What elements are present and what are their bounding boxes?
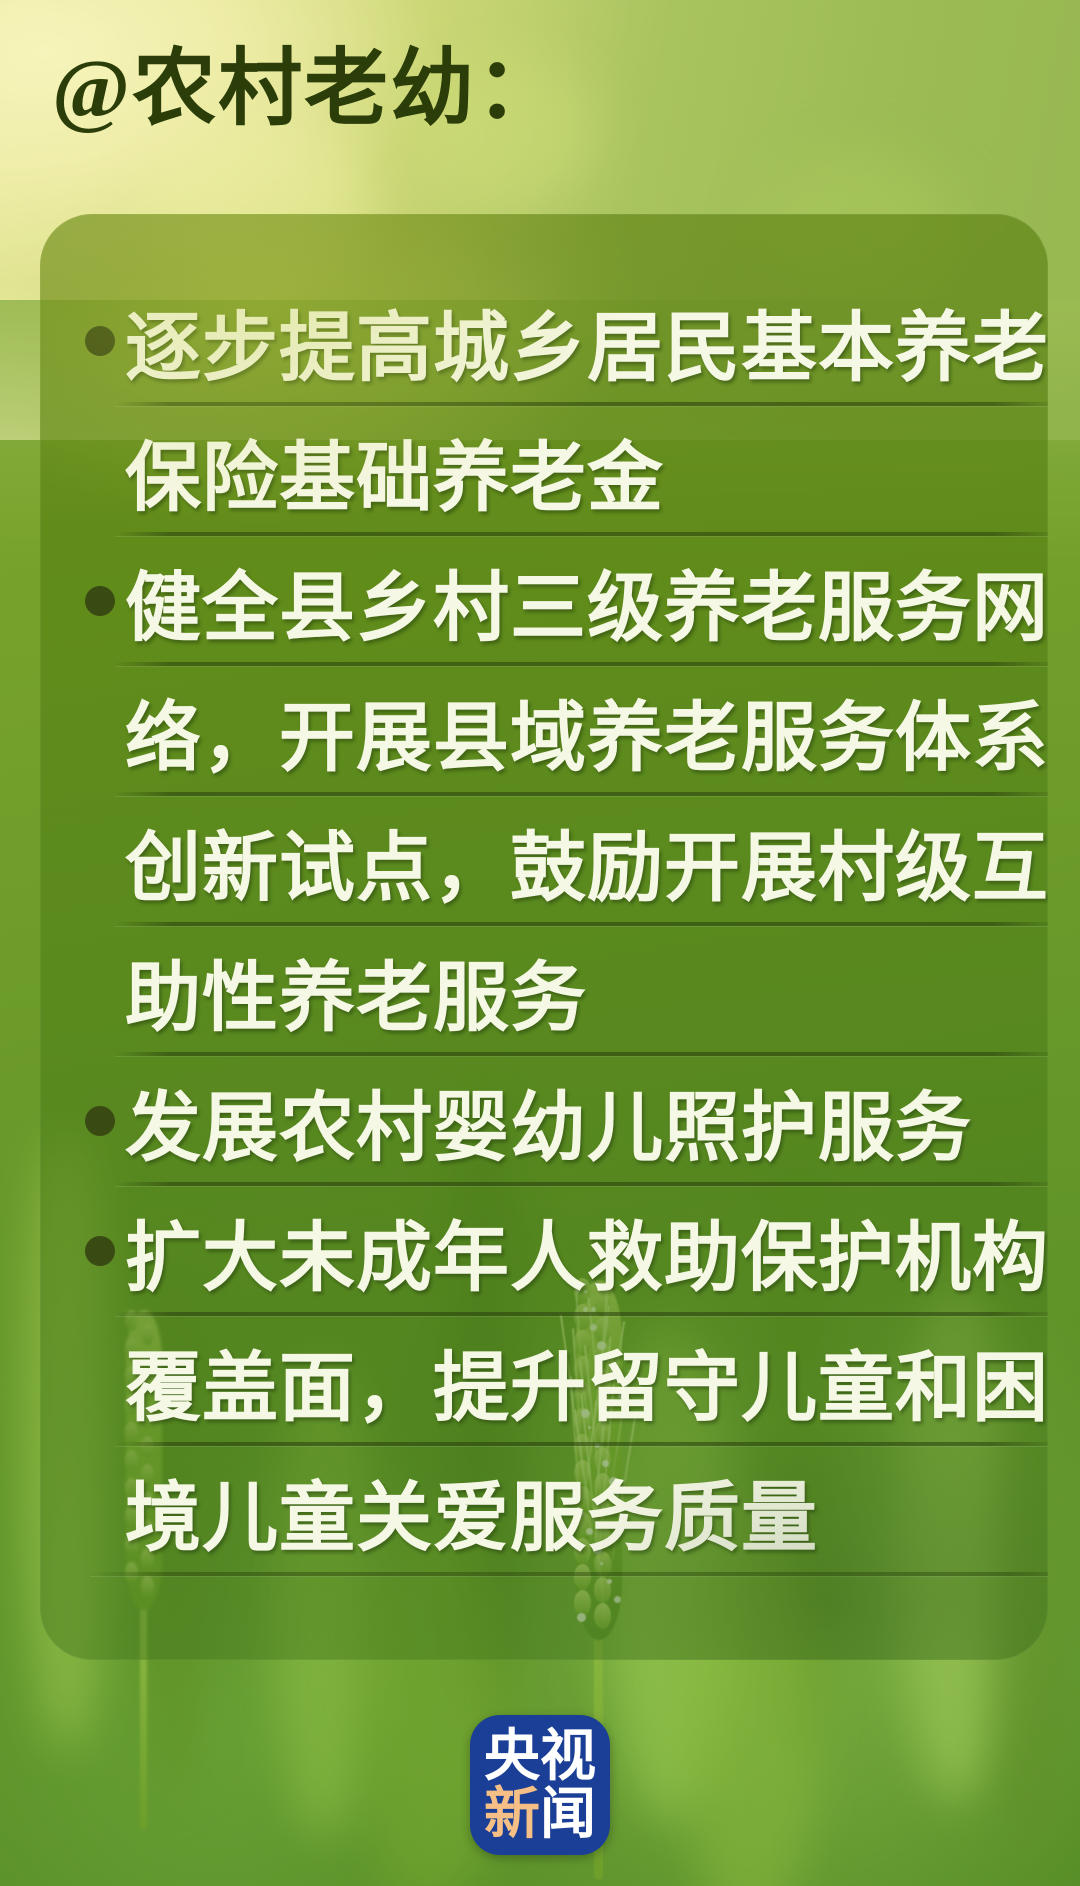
policy-line: 络，开展县域养老服务体系	[40, 666, 1048, 796]
policy-line-text: 健全县乡村三级养老服务网	[125, 536, 1038, 666]
policy-line-text: 发展农村婴幼儿照护服务	[125, 1056, 1038, 1186]
policy-line: 创新试点，鼓励开展村级互	[40, 796, 1048, 926]
logo-char-wen: 闻	[540, 1782, 596, 1845]
policy-list: 逐步提高城乡居民基本养老保险基础养老金健全县乡村三级养老服务网络，开展县域养老服…	[40, 214, 1048, 1576]
cctv-news-logo: 央视 新闻	[470, 1715, 610, 1855]
policy-line: 健全县乡村三级养老服务网	[40, 536, 1048, 666]
logo-line-yangshi: 央视	[484, 1727, 596, 1785]
policy-line: 保险基础养老金	[40, 406, 1048, 536]
logo-line-xinwen: 新闻	[484, 1785, 596, 1843]
policy-line: 发展农村婴幼儿照护服务	[40, 1056, 1048, 1186]
policy-line-text: 境儿童关爱服务质量	[125, 1446, 1038, 1576]
policy-line-text: 覆盖面，提升留守儿童和困	[125, 1316, 1038, 1446]
policy-line-text: 逐步提高城乡居民基本养老	[125, 276, 1038, 406]
bullet-dot-icon	[85, 1236, 115, 1266]
bullet-dot-icon	[85, 1106, 115, 1136]
policy-line: 扩大未成年人救助保护机构	[40, 1186, 1048, 1316]
policy-line: 境儿童关爱服务质量	[40, 1446, 1048, 1576]
policy-line-text: 扩大未成年人救助保护机构	[125, 1186, 1038, 1316]
bullet-dot-icon	[85, 326, 115, 356]
page-title: @农村老幼：	[52, 30, 952, 150]
logo-char-xin: 新	[484, 1782, 540, 1845]
line-separator	[90, 1572, 1048, 1576]
content-card: 逐步提高城乡居民基本养老保险基础养老金健全县乡村三级养老服务网络，开展县域养老服…	[40, 214, 1048, 1660]
policy-line-text: 络，开展县域养老服务体系	[125, 666, 1038, 796]
bullet-dot-icon	[85, 586, 115, 616]
policy-line-text: 创新试点，鼓励开展村级互	[125, 796, 1038, 926]
policy-line-text: 助性养老服务	[125, 926, 1038, 1056]
policy-line: 逐步提高城乡居民基本养老	[40, 276, 1048, 406]
policy-line: 助性养老服务	[40, 926, 1048, 1056]
policy-line: 覆盖面，提升留守儿童和困	[40, 1316, 1048, 1446]
policy-line-text: 保险基础养老金	[125, 406, 1038, 536]
